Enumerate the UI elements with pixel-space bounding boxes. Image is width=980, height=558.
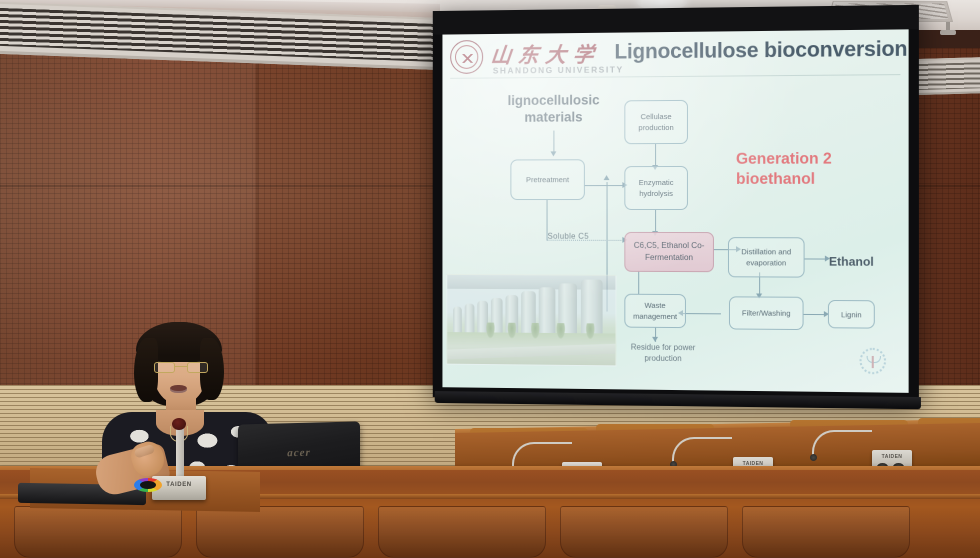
edge-materials-pretreatment [553,131,554,153]
university-seal-icon [450,40,483,74]
microphone-gooseneck [672,437,732,463]
mouth [170,385,187,393]
mic-brand-label: TAIDEN [872,454,912,460]
glasses-bridge [175,366,187,367]
microphone-head-icon [810,454,817,461]
edge-filter-lignin [804,314,826,315]
podium-panel [560,506,728,558]
edge-distillation-ethanol [805,258,827,259]
terminal-residue-power-production: Residue for power production [615,341,710,364]
node-pretreatment[interactable]: Pretreatment [510,159,584,200]
mic-led-ring-icon [134,478,162,492]
edge-hydrolysis-cofermentation [655,210,656,232]
edge-label-soluble-c5: Soluble C5 [548,232,589,241]
lecture-hall-scene: 山东大学 SHANDONG UNIVERSITY Lignocellulose … [0,0,980,558]
node-co-fermentation[interactable]: C6,C5, Ethanol Co-Fermentation [624,232,714,272]
glasses-lens-right [187,362,208,373]
podium-panel [14,506,182,558]
podium-panel [378,506,546,558]
arrowhead-down [550,151,556,156]
node-enzymatic-hydrolysis[interactable]: Enzymatic hydrolysis [624,166,688,210]
node-distillation-evaporation[interactable]: Distillation and evaporation [728,237,805,278]
tree-shape [586,323,595,339]
edge-filter-waste [681,313,721,314]
laptop-brand-label: acer [238,445,360,460]
highlight-generation-2-bioethanol: Generation 2 bioethanol [736,149,909,190]
podium-panel [196,506,364,558]
glasses-lens-left [154,362,175,373]
terminal-lignocellulosic-materials: lignocellulosic materials [499,92,609,126]
edge-pretreatment-hydrolysis [584,185,623,186]
edge-cellulase-hydrolysis [655,144,656,166]
node-waste-management[interactable]: Waste management [624,294,686,328]
terminal-ethanol: Ethanol [829,255,874,269]
tree-shape [531,323,540,339]
microphone-gooseneck [812,430,872,456]
presentation-slide: 山东大学 SHANDONG UNIVERSITY Lignocellulose … [442,29,908,393]
podium-panel [742,506,910,558]
ceiling-hook-icon [940,22,956,34]
slide-inset-photo-fermentation-tanks [446,274,616,366]
microphone-stem [176,424,184,480]
slide-footer-emblem-icon [859,348,886,375]
node-lignin[interactable]: Lignin [828,300,875,329]
edge-cofermentation-waste [638,272,639,294]
tank-shape [539,287,556,335]
node-cellulase-production[interactable]: Cellulase production [624,100,688,144]
university-name-english: SHANDONG UNIVERSITY [493,64,624,75]
arrowhead-up [604,175,610,180]
slide-title: Lignocellulose bioconversion [614,37,907,64]
projection-screen: 山东大学 SHANDONG UNIVERSITY Lignocellulose … [433,5,919,403]
tree-shape [556,323,565,339]
tank-shape [453,307,462,335]
tree-shape [507,323,516,339]
node-filter-washing[interactable]: Filter/Washing [729,296,804,330]
tree-shape [486,323,495,339]
microphone-head-icon [172,418,186,430]
glasses-icon [154,362,208,373]
tank-shape [465,304,475,335]
